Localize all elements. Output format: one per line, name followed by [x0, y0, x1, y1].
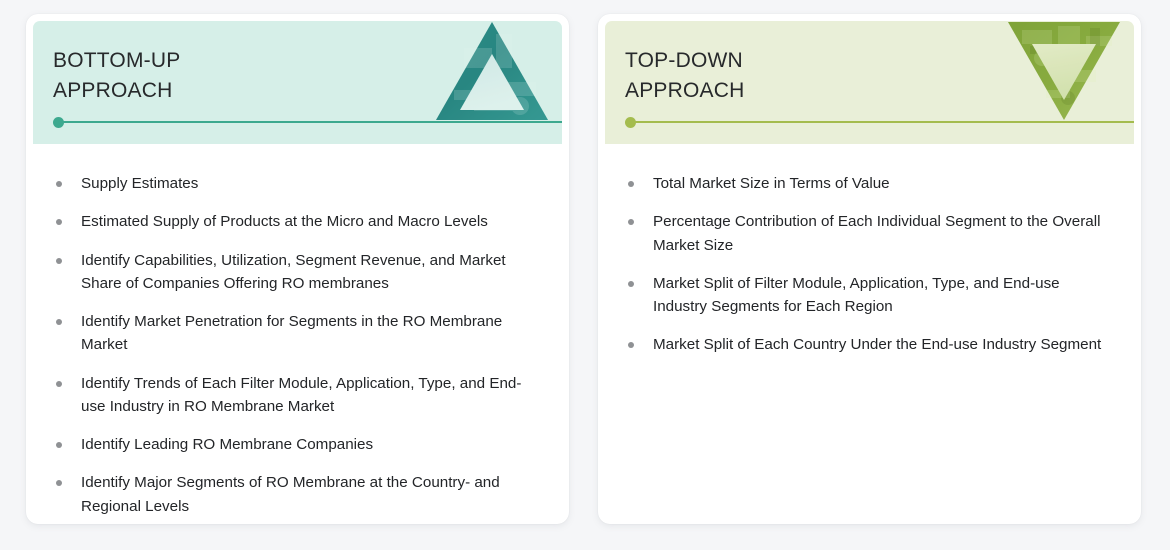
list-item-label: Identify Leading RO Membrane Companies — [81, 433, 373, 456]
list-item-label: Identify Capabilities, Utilization, Segm… — [81, 249, 543, 296]
list-item-label: Total Market Size in Terms of Value — [653, 172, 890, 195]
list-item-label: Identify Market Penetration for Segments… — [81, 310, 543, 357]
card-body-top-down: Total Market Size in Terms of Value Perc… — [598, 144, 1141, 382]
bullet-dot-icon — [56, 219, 62, 225]
list-item: Market Split of Each Country Under the E… — [622, 333, 1115, 356]
list-item-label: Supply Estimates — [81, 172, 198, 195]
triangle-up-icon — [434, 21, 550, 122]
rule-line — [61, 121, 562, 123]
list-item: Market Split of Filter Module, Applicati… — [622, 272, 1115, 319]
bullet-dot-icon — [56, 258, 62, 264]
bullet-dot-icon — [56, 181, 62, 187]
list-item-label: Market Split of Filter Module, Applicati… — [653, 272, 1108, 319]
bullet-dot-icon — [628, 281, 634, 287]
bullet-list-top-down: Total Market Size in Terms of Value Perc… — [622, 172, 1115, 357]
bullet-dot-icon — [628, 219, 634, 225]
bullet-dot-icon — [56, 442, 62, 448]
card-header-bottom-up: BOTTOM-UP APPROACH — [33, 21, 562, 144]
bullet-dot-icon — [56, 480, 62, 486]
list-item: Percentage Contribution of Each Individu… — [622, 210, 1115, 257]
header-rule-top-down — [625, 121, 1134, 123]
list-item-label: Identify Major Segments of RO Membrane a… — [81, 471, 543, 518]
list-item: Identify Trends of Each Filter Module, A… — [50, 372, 543, 419]
list-item: Total Market Size in Terms of Value — [622, 172, 1115, 195]
list-item: Identify Major Segments of RO Membrane a… — [50, 471, 543, 518]
list-item: Supply Estimates — [50, 172, 543, 195]
list-item-label: Identify Trends of Each Filter Module, A… — [81, 372, 543, 419]
triangle-down-icon — [1006, 21, 1122, 122]
list-item: Identify Market Penetration for Segments… — [50, 310, 543, 357]
card-body-bottom-up: Supply Estimates Estimated Supply of Pro… — [26, 144, 569, 524]
list-item-label: Percentage Contribution of Each Individu… — [653, 210, 1108, 257]
card-bottom-up-approach: BOTTOM-UP APPROACH — [26, 14, 569, 524]
card-header-top-down: TOP-DOWN APPROACH — [605, 21, 1134, 144]
bullet-dot-icon — [628, 342, 634, 348]
bullet-dot-icon — [628, 181, 634, 187]
bullet-dot-icon — [56, 319, 62, 325]
bullet-dot-icon — [56, 381, 62, 387]
list-item: Identify Capabilities, Utilization, Segm… — [50, 249, 543, 296]
card-title-top-down: TOP-DOWN APPROACH — [625, 46, 744, 106]
list-item: Estimated Supply of Products at the Micr… — [50, 210, 543, 233]
methodology-comparison-panel: BOTTOM-UP APPROACH — [0, 0, 1170, 550]
list-item-label: Estimated Supply of Products at the Micr… — [81, 210, 488, 233]
list-item: Identify Leading RO Membrane Companies — [50, 433, 543, 456]
bullet-list-bottom-up: Supply Estimates Estimated Supply of Pro… — [50, 172, 543, 518]
card-top-down-approach: TOP-DOWN APPROACH — [598, 14, 1141, 524]
list-item-label: Market Split of Each Country Under the E… — [653, 333, 1101, 356]
card-title-bottom-up: BOTTOM-UP APPROACH — [53, 46, 180, 106]
rule-line — [633, 121, 1134, 123]
header-rule-bottom-up — [53, 121, 562, 123]
